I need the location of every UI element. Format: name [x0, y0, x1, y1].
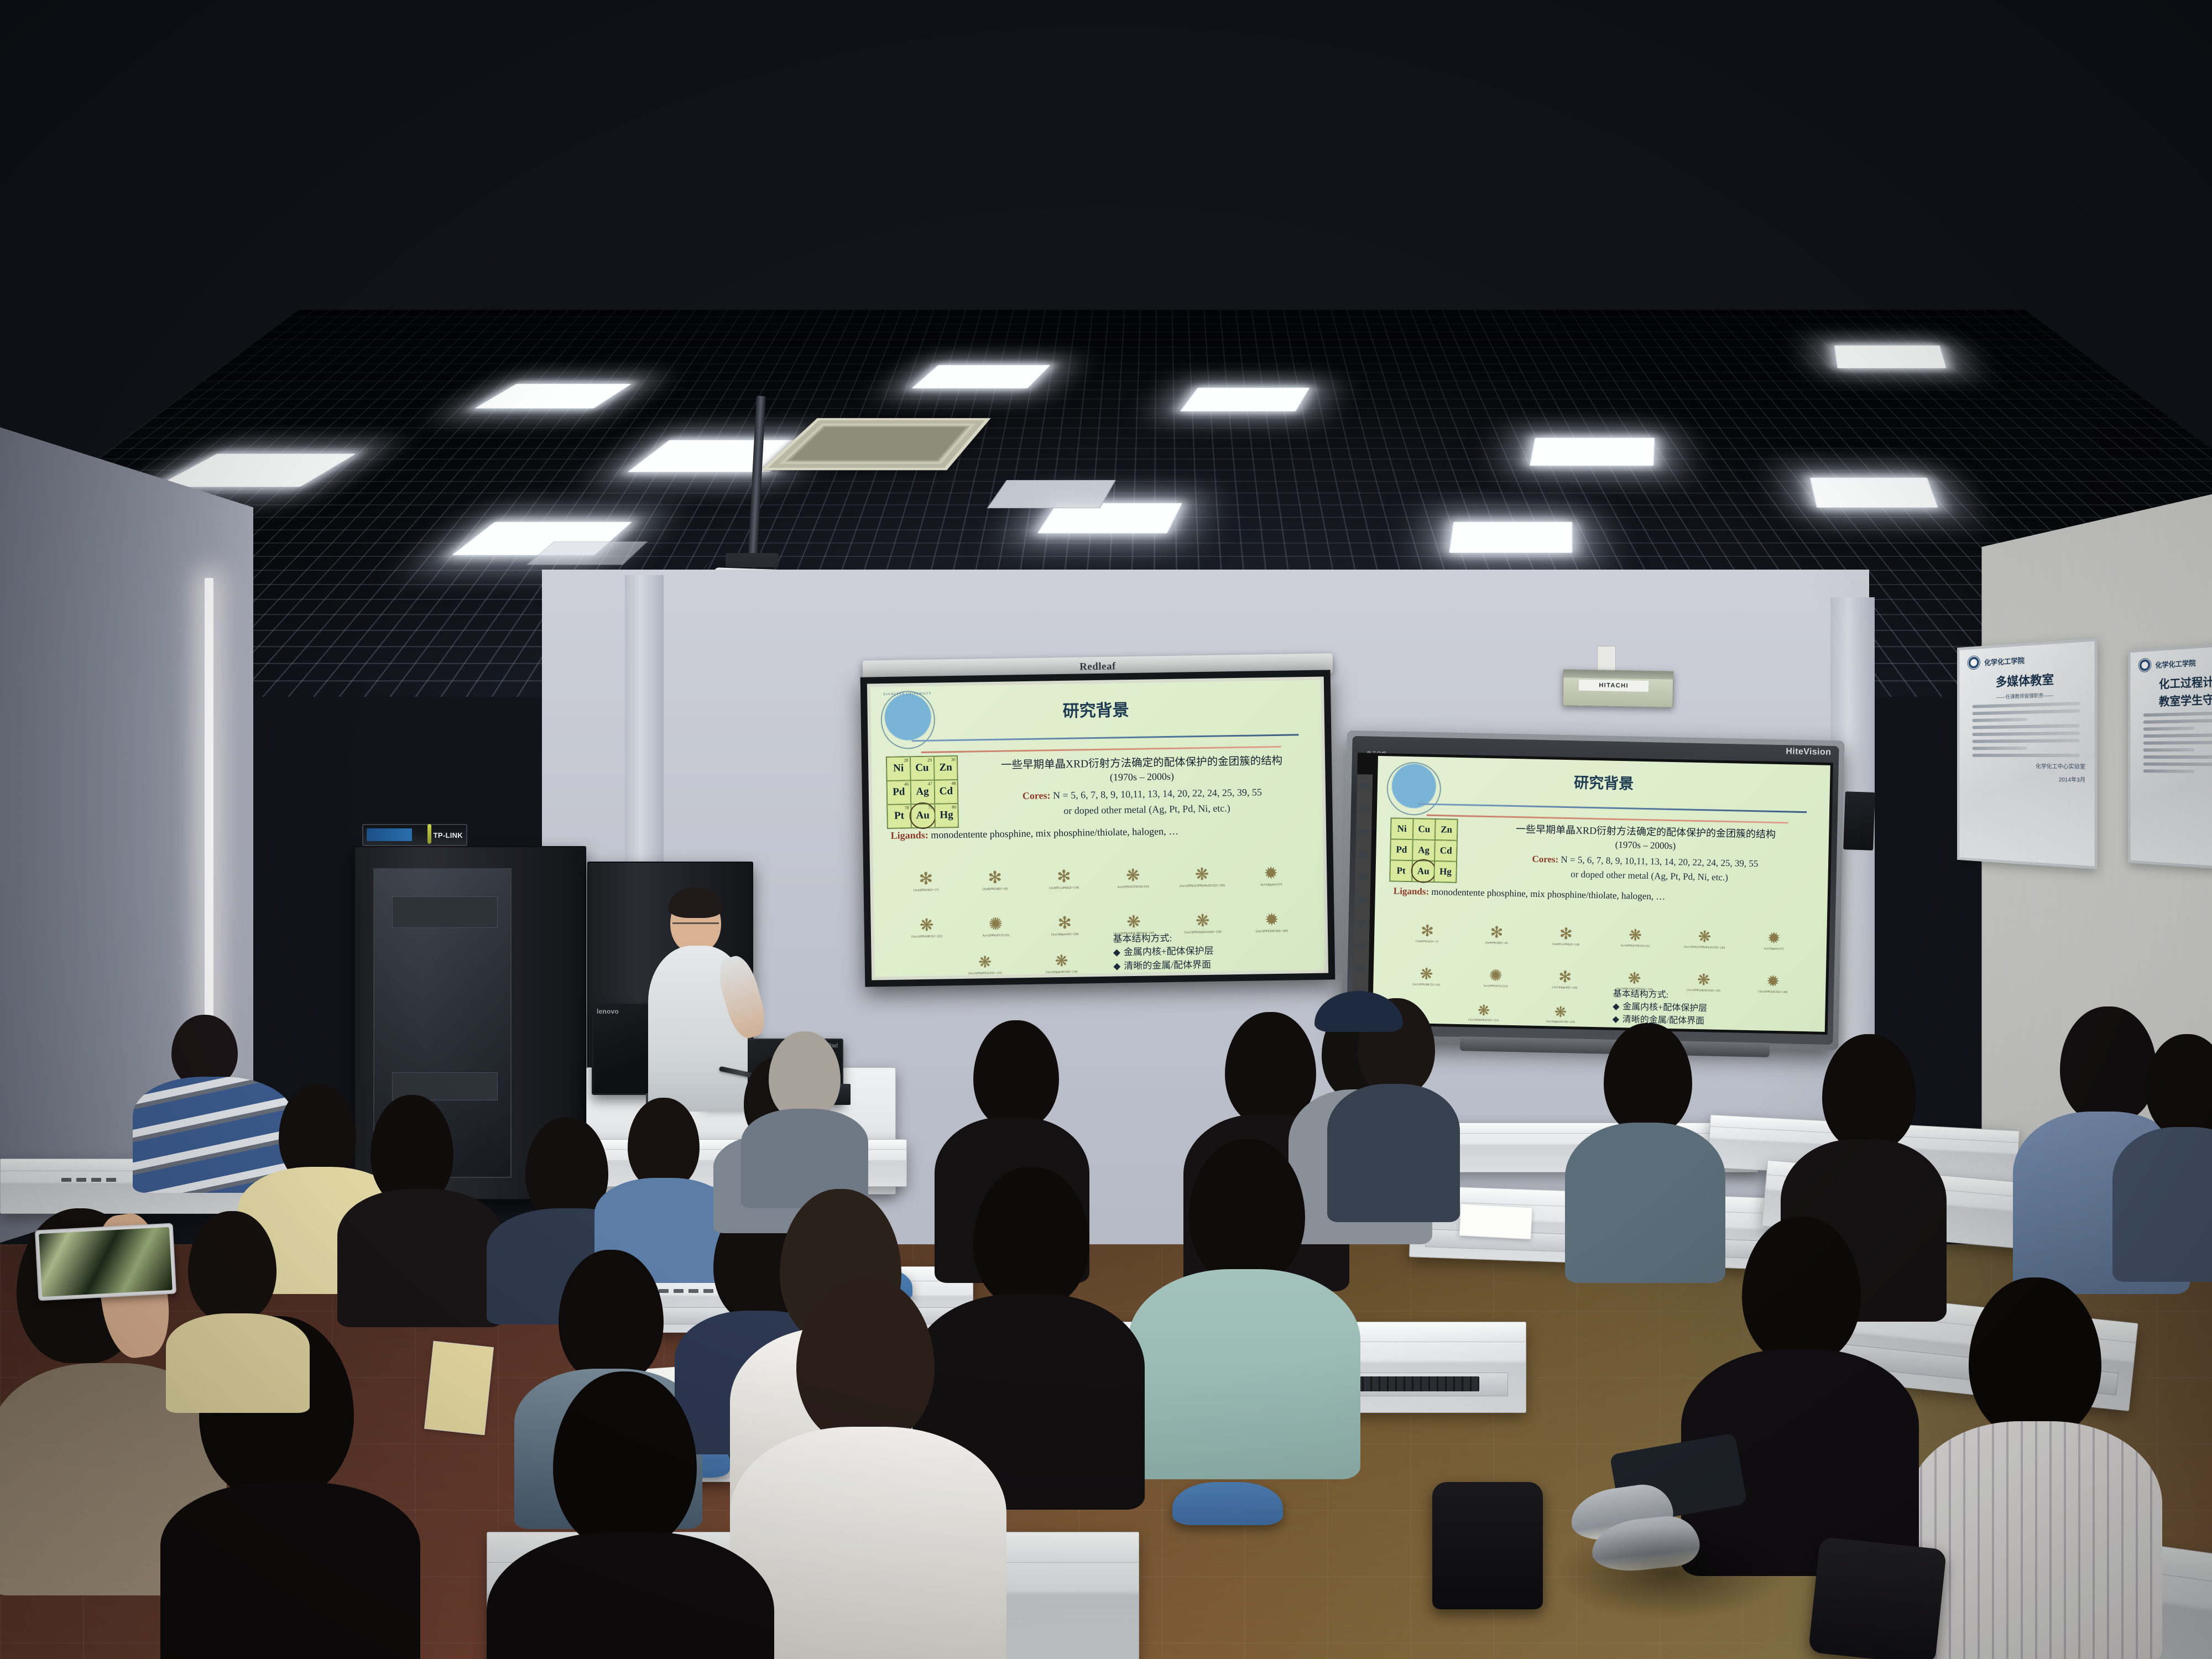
- bullet-text: 金属内核+配体保护层: [1124, 945, 1214, 959]
- whiteboard-brand-label: HiteVision: [1786, 747, 1831, 758]
- structure-thumb: ✹ Au11(dppe)4 (37): [1236, 843, 1306, 888]
- element-number: 47: [928, 781, 932, 786]
- toolbar-prev-icon[interactable]: [1356, 966, 1365, 972]
- periodic-cell: Zn: [1435, 819, 1458, 841]
- cluster-glyph: ❋: [978, 955, 992, 971]
- structure-caption: [Au11(PPh3)7(PPh2Py)2Cl2]2+ (36): [1180, 884, 1225, 888]
- router-brand-label: TP-LINK: [434, 831, 463, 839]
- toolbar-eraser-icon[interactable]: [1358, 898, 1367, 903]
- slide-ligands-block-mirror: Ligands: monodentente phosphine, mix pho…: [1394, 885, 1819, 905]
- element-symbol: Pd: [1396, 844, 1407, 855]
- element-symbol: Hg: [1439, 866, 1452, 877]
- projector-brand-label: HITACHI: [1579, 679, 1649, 692]
- structure-caption: [Au8(PPh3)8]2+ (8): [1485, 942, 1508, 945]
- element-symbol: Cd: [1440, 845, 1452, 856]
- person-torso: [1128, 1269, 1360, 1479]
- cluster-glyph: ✻: [988, 870, 1002, 886]
- structure-caption: Au11(dppe)4 (37): [1260, 883, 1282, 887]
- sign-body-line: [1973, 732, 2080, 736]
- structure-thumb: ❋ Au11(PPh3)7(NO3)3 (35): [1098, 844, 1167, 889]
- cluster-glyph: ✹: [1264, 865, 1279, 882]
- sign-body-line: [1973, 739, 2080, 743]
- cluster-glyph: ✻: [1558, 969, 1572, 985]
- slide-cores-line-2: or doped other metal (Ag, Pt, Pd, Ni, et…: [980, 801, 1314, 818]
- slide-divider-blue: [1418, 804, 1807, 813]
- sign-body-line: [1973, 718, 2027, 722]
- school-logo-icon: [1968, 655, 1980, 670]
- person-head: [1742, 1217, 1861, 1363]
- toolbar-page-icon[interactable]: [1359, 829, 1368, 834]
- person-head: [188, 1211, 276, 1322]
- cluster-glyph: ✻: [1490, 926, 1503, 941]
- cluster-glyph: ❋: [1126, 914, 1141, 931]
- structure-caption: [Au11(PPh3)8Cl2]+ (22): [1412, 983, 1440, 987]
- sign-title-line-1: 化工过程计算: [2138, 671, 2212, 693]
- projection-screen-surface: XIANGTAN UNIVERSITY 研究背景 28 Ni 29 Cu: [867, 677, 1328, 980]
- cluster-glyph: ❋: [1478, 1004, 1490, 1018]
- backpack: [1432, 1482, 1543, 1609]
- person-head: [1604, 1023, 1692, 1134]
- structure-caption: [Au6(PPh3)6]2+ (7): [914, 889, 938, 893]
- cluster-glyph: ❋: [1126, 868, 1140, 884]
- element-number: 79: [928, 805, 932, 810]
- cluster-glyph: ❋: [1697, 973, 1710, 988]
- ligands-label: Ligands:: [891, 830, 928, 841]
- sign-footer-org: 化学化工中心实验室: [1968, 761, 2086, 771]
- cluster-glyph: ❋: [1627, 971, 1641, 987]
- person-torso: [160, 1482, 420, 1659]
- periodic-cell: Pt: [1390, 860, 1412, 881]
- desk-cable-vent: [61, 1178, 116, 1182]
- sign-header: 化学化工学院: [1968, 649, 2086, 670]
- wall-sign-multimedia-classroom: 化学化工学院 多媒体教室 ——任课教师管理职责—— 化学化工中心实验室 2014…: [1957, 638, 2098, 869]
- structure-row-2: ❋ [Au11(PPh3)8Cl2]+ (22) ✺ Au11(PPh3)7Cl…: [891, 889, 1306, 938]
- structure-thumb: ✻[Au13(dppe)4]3+ (30): [1530, 948, 1600, 990]
- cores-label: Cores:: [1022, 790, 1051, 802]
- structure-thumb: ✻[Au8(PPh3)8]2+ (8): [1462, 904, 1532, 946]
- structure-caption: Au11(PPh3)7(NO3)3 (35): [1117, 885, 1149, 889]
- cluster-glyph: ❋: [1196, 913, 1210, 930]
- wifi-router: TP-LINK: [362, 824, 467, 846]
- ceiling-blank-panel: [987, 480, 1116, 508]
- ceiling-light-panel: [1180, 388, 1310, 411]
- sign-department: 化学化工学院: [2156, 657, 2196, 670]
- ceiling-light-panel: [1834, 346, 1947, 368]
- cluster-glyph: ✺: [1489, 968, 1503, 984]
- structure-thumb: ❋[Au13(PPh3)4(SO3)4]2+ (39): [1669, 951, 1739, 993]
- bullet-text: 清晰的金属/配体界面: [1124, 958, 1211, 973]
- structure-thumb: ✻[Au9(PCy2Ph)6]3+ (18): [1531, 906, 1601, 947]
- audience-member-cap: [1291, 994, 1424, 1138]
- element-symbol: Cu: [915, 762, 929, 774]
- periodic-cell: 48 Cd: [934, 780, 958, 804]
- audience-member: [741, 1031, 868, 1186]
- ceiling-light-panel: [1530, 437, 1655, 466]
- periodic-cell: Pd: [1390, 839, 1413, 860]
- periodic-table-excerpt: Ni Cu Zn Pd Ag Cd Pt Au Hg: [1389, 817, 1458, 883]
- slide-bullets: 基本结构方式: ◆ 金属内核+配体保护层 ◆ 清晰的金属/配体界面: [1113, 931, 1214, 973]
- structure-row-3: ❋ [Au13(PMePh2)10]3+ (31) ❋ [Au13(dppe)4…: [946, 936, 1100, 975]
- diamond-bullet-icon: ◆: [1113, 959, 1120, 973]
- person-head: [553, 1371, 697, 1548]
- structure-thumb: ❋ [Au11(PPh3)8Cl2]+ (22): [891, 894, 961, 939]
- toolbar-shape-icon[interactable]: [1358, 852, 1368, 857]
- whiteboard-display-surface[interactable]: 研究背景 Ni Cu Zn Pd Ag Cd Pt Au Hg 一些早期: [1352, 753, 1833, 1035]
- element-symbol: Ni: [893, 763, 904, 775]
- element-number: 29: [927, 758, 932, 763]
- periodic-cell: 47 Ag: [910, 780, 934, 804]
- diamond-bullet-icon: ◆: [1113, 946, 1120, 960]
- structure-caption: [Au13(PPh3)4Cl4]2+ (40): [1256, 929, 1288, 933]
- toolbar-undo-icon[interactable]: [1357, 920, 1366, 926]
- diamond-bullet-icon: ◆: [1613, 1000, 1620, 1013]
- toolbar-text-icon[interactable]: [1358, 874, 1368, 880]
- element-symbol: Hg: [940, 809, 953, 821]
- periodic-cell: 30 Zn: [933, 756, 957, 780]
- element-symbol: Ag: [916, 786, 929, 798]
- cluster-glyph: ✻: [1559, 927, 1573, 942]
- structure-thumb: ✻ [Au6(PPh3)6]2+ (7): [891, 848, 961, 893]
- structure-thumb: ❋Au11(PPh3)7(NO3)3 (35): [1600, 907, 1671, 948]
- audience-member: [166, 1211, 310, 1394]
- sign-body-line: [1973, 747, 2027, 750]
- person-head: [628, 1098, 700, 1189]
- structure-thumb: ❋ [Au13(PPh3)4(SC4H9)4]2+ (38): [1099, 891, 1168, 936]
- slide-projected: XIANGTAN UNIVERSITY 研究背景 28 Ni 29 Cu: [870, 680, 1325, 977]
- periodic-cell: Cd: [1434, 840, 1457, 862]
- structure-thumb: ❋ [Au11(PPh3)7(PPh2Py)2Cl2]2+ (36): [1167, 844, 1237, 889]
- element-symbol: Cd: [940, 785, 953, 797]
- cluster-glyph: ✻: [1057, 915, 1072, 932]
- slide-on-whiteboard: 研究背景 Ni Cu Zn Pd Ag Cd Pt Au Hg 一些早期: [1373, 756, 1830, 1032]
- wall-power-socket[interactable]: [1597, 646, 1616, 671]
- loose-paper[interactable]: [1459, 1204, 1533, 1240]
- structure-thumb: ✹[Au13(PPh3)4Cl4]2+ (40): [1738, 953, 1808, 994]
- cores-label: Cores:: [1532, 854, 1558, 865]
- cluster-glyph: ✹: [1767, 931, 1781, 947]
- audience-member: [453, 1371, 752, 1659]
- smartphone[interactable]: [35, 1223, 176, 1301]
- cluster-glyph: ❋: [1055, 954, 1068, 969]
- cluster-glyph: ❋: [1420, 967, 1433, 982]
- element-number: 28: [904, 758, 908, 763]
- sign-body-line: [2143, 718, 2212, 724]
- person-torso: [1908, 1421, 2162, 1659]
- periodic-cell: Ni: [1391, 818, 1413, 839]
- slide-title: 研究背景: [870, 693, 1321, 724]
- sign-footer-date: 2014年3月: [1968, 774, 2086, 784]
- element-symbol: Zn: [1441, 824, 1452, 835]
- structure-thumb: ❋[Au13(dppe)4Cl4]3+ (34): [1522, 988, 1599, 1025]
- slide-title-mirror: 研究背景: [1378, 766, 1830, 797]
- cluster-glyph: ❋: [1554, 1005, 1567, 1020]
- wall-strip-light: [205, 578, 213, 1076]
- phone-screen: [39, 1227, 173, 1297]
- structure-row-1-mirror: ✻[Au6(PPh3)6]2+ (7) ✻[Au8(PPh3)8]2+ (8) …: [1392, 903, 1809, 952]
- structure-caption: [Au13(PPh3)4Cl4]2+ (40): [1758, 990, 1787, 994]
- ceiling-light-panel: [1449, 521, 1573, 553]
- backpack: [1808, 1537, 1947, 1659]
- sign-body-line: [1973, 702, 2080, 708]
- cluster-glyph: ✻: [1057, 869, 1071, 885]
- structure-caption: [Au13(PMePh2)10]3+ (31): [1468, 1019, 1499, 1022]
- person-head: [796, 1277, 935, 1443]
- element-symbol: Pt: [1396, 865, 1405, 876]
- school-logo-icon: [2138, 658, 2151, 673]
- floor-shadow: [1554, 1526, 1786, 1620]
- periodic-cell: 46 Pd: [887, 780, 911, 805]
- sign-body-line: [2143, 769, 2195, 773]
- periodic-cell: 29 Cu: [910, 756, 934, 780]
- structure-thumb: ✹Au11(dppe)4 (37): [1739, 910, 1809, 952]
- presenter-glasses-icon: [672, 922, 719, 931]
- structure-caption: [Au11(PPh3)8Cl2]+ (22): [911, 935, 942, 938]
- structure-caption: [Au6(PPh3)6]2+ (7): [1416, 941, 1438, 944]
- bullet-text: 金属内核+配体保护层: [1623, 1000, 1707, 1015]
- person-head: [1189, 1139, 1305, 1283]
- router-antenna: [427, 824, 431, 844]
- cluster-glyph: ❋: [1629, 928, 1642, 944]
- structure-thumb: ✻ [Au8(PPh3)8]2+ (8): [960, 847, 1030, 891]
- structure-thumb: ✻[Au6(PPh3)6]2+ (7): [1392, 903, 1463, 945]
- router-display: [367, 828, 412, 841]
- structure-caption: [Au13(PMePh2)10]3+ (31): [968, 972, 1001, 975]
- sign-body-line: [2143, 740, 2212, 745]
- periodic-cell-highlighted: 79 Au: [911, 804, 935, 828]
- cluster-glyph: ✹: [1766, 974, 1780, 989]
- periodic-cell: 28 Ni: [886, 757, 910, 781]
- periodic-cell: 80 Hg: [935, 804, 958, 828]
- wall-projector: HITACHI: [1562, 669, 1673, 707]
- cluster-glyph: ❋: [1195, 867, 1209, 883]
- structure-thumb: ✹ [Au13(PPh3)4Cl4]2+ (40): [1237, 889, 1306, 933]
- cluster-glyph: ✻: [919, 871, 933, 888]
- sign-body-line: [2143, 711, 2212, 717]
- structure-caption: [Au9(PCy2Ph)6]3+ (18): [1552, 943, 1579, 947]
- periodic-cell: Cu: [1413, 818, 1436, 840]
- bullet-item: ◆ 清晰的金属/配体界面: [1113, 958, 1214, 973]
- sign-body-line: [1973, 754, 2080, 757]
- structure-row-1: ✻ [Au6(PPh3)6]2+ (7) ✻ [Au8(PPh3)8]2+ (8…: [891, 843, 1306, 893]
- sign-header: 化学化工学院: [2138, 652, 2212, 673]
- whiteboard-side-speaker: [1843, 791, 1875, 851]
- sign-title-line-2: 教室学生守则: [2138, 690, 2212, 710]
- periodic-cell: Ag: [1412, 839, 1435, 861]
- audience-member: [337, 1095, 503, 1305]
- sign-department: 化学化工学院: [1984, 654, 2025, 667]
- sign-body-line: [2143, 755, 2212, 759]
- element-symbol: Ag: [1418, 844, 1430, 855]
- ligands-text: monodentente phosphine, mix phosphine/th…: [1431, 886, 1665, 902]
- person-torso: [487, 1532, 774, 1659]
- person-head: [1969, 1277, 2101, 1438]
- person-head: [1822, 1034, 1916, 1150]
- periodic-cell: 78 Pt: [887, 804, 911, 828]
- structure-thumb: ❋[Au11(PPh3)7(PPh2Py)2Cl2]2+ (36): [1670, 909, 1740, 950]
- cores-line-1: N = 5, 6, 7, 8, 9, 10,11, 13, 14, 20, 22…: [1561, 854, 1758, 869]
- structure-caption: [Au11(PPh3)7(PPh2Py)2Cl2]2+ (36): [1684, 946, 1725, 950]
- toolbar-redo-icon[interactable]: [1357, 943, 1366, 948]
- cluster-glyph: ❋: [920, 917, 934, 934]
- element-number: 48: [951, 781, 956, 786]
- sign-body-line: [2143, 763, 2212, 766]
- structure-thumb: ✺Au11(PPh3)7Cl3 (23): [1461, 947, 1531, 988]
- slide-divider-blue: [912, 734, 1299, 742]
- person-head: [769, 1031, 841, 1120]
- projector-top-bar: [1563, 670, 1673, 680]
- sign-body-line: [2143, 727, 2195, 731]
- sign-body-line: [1973, 709, 2080, 715]
- cluster-glyph: ✺: [989, 916, 1003, 933]
- sign-body-line: [1973, 724, 2080, 729]
- structure-thumb: ❋ [Au13(PMePh2)10]3+ (31): [946, 937, 1023, 975]
- cores-line-1: N = 5, 6, 7, 8, 9, 10,11, 13, 14, 20, 22…: [1053, 787, 1262, 801]
- ligands-text: monodentente phosphine, mix phosphine/th…: [931, 826, 1178, 841]
- structure-thumb: ❋[Au11(PPh3)8Cl2]+ (22): [1391, 946, 1462, 987]
- element-number: 46: [904, 781, 909, 786]
- slide-cores-block: Cores: N = 5, 6, 7, 8, 9, 10,11, 13, 14,…: [971, 786, 1313, 803]
- structure-caption: [Au8(PPh3)8]2+ (8): [983, 888, 1008, 891]
- student-chair[interactable]: [1172, 1482, 1283, 1525]
- structure-thumb: ❋[Au13(PPh3)4(SC4H9)4]2+ (38): [1599, 950, 1670, 992]
- element-symbol: Ni: [1397, 823, 1406, 834]
- structure-caption: Au11(PPh3)7(NO3)3 (35): [1620, 945, 1650, 948]
- sign-subtitle: ——任课教师管理职责——: [1968, 690, 2086, 702]
- person-torso: [166, 1313, 310, 1413]
- cluster-glyph: ✹: [1265, 912, 1279, 928]
- person-head: [2146, 1034, 2212, 1136]
- person-torso: [2112, 1127, 2212, 1282]
- element-number: 80: [952, 805, 956, 810]
- sign-body-line: [2143, 748, 2195, 752]
- slide-bullets-mirror: 基本结构方式: ◆金属内核+配体保护层 ◆清晰的金属/配体界面: [1613, 988, 1708, 1028]
- structure-thumb: ✻ [Au13(dppe)4]3+ (30): [1030, 892, 1099, 937]
- element-symbol: Pt: [894, 810, 904, 822]
- gold-highlight-circle: [1411, 859, 1436, 883]
- logo-university-text: XIANGTAN UNIVERSITY: [883, 692, 932, 696]
- person-torso: [337, 1189, 503, 1327]
- ligands-label: Ligands:: [1394, 885, 1430, 896]
- structure-caption: [Au9(PCy2Ph)6]3+ (18): [1049, 886, 1079, 890]
- ceiling-light-panel: [1809, 478, 1938, 508]
- cluster-glyph: ❋: [1698, 930, 1711, 945]
- sign-body-line: [2143, 733, 2212, 738]
- structure-caption: Au11(dppe)4 (37): [1764, 948, 1783, 951]
- cluster-glyph: ✻: [1421, 924, 1434, 940]
- screen-brand-label: Redleaf: [1079, 660, 1116, 673]
- element-number: 78: [905, 805, 909, 810]
- element-symbol: Zn: [939, 761, 952, 774]
- structure-thumb: ❋ [Au13(PPh3)4(SO3)4]2+ (39): [1168, 890, 1238, 935]
- person-head: [559, 1250, 664, 1383]
- structure-caption: [Au13(dppe)4Cl4]3+ (34): [1046, 971, 1077, 974]
- classroom-scene: Redleaf XIANGTAN UNIVERSITY 研究背景 28: [0, 0, 2212, 1659]
- periodic-cell-highlighted: Au: [1412, 860, 1434, 882]
- periodic-cell: Hg: [1434, 861, 1457, 883]
- bullet-item: ◆ 金属内核+配体保护层: [1113, 945, 1214, 959]
- structure-thumb: ❋ [Au13(dppe)4Cl4]3+ (34): [1023, 936, 1100, 974]
- person-head: [171, 1015, 238, 1087]
- person-head: [973, 1020, 1059, 1128]
- toolbar-pen-icon[interactable]: [1360, 783, 1369, 789]
- sign-title: 多媒体教室: [1968, 668, 2086, 691]
- element-symbol: Pd: [893, 786, 905, 799]
- structure-thumb: ✺ Au11(PPh3)7Cl3 (23): [961, 893, 1030, 938]
- presenter-hair: [668, 887, 723, 918]
- rack-patch-panel: [392, 896, 498, 928]
- element-symbol: Cu: [1418, 823, 1430, 834]
- structure-row-3-mirror: ❋[Au13(PMePh2)10]3+ (31) ❋[Au13(dppe)4Cl…: [1445, 987, 1599, 1024]
- audience-member: [1128, 1139, 1360, 1449]
- bullets-header: 基本结构方式:: [1113, 931, 1213, 946]
- wall-sign-student-rules: 化学化工学院 化工过程计算 教室学生守则: [2128, 641, 2212, 872]
- element-number: 30: [951, 757, 956, 762]
- person-cap-icon: [1314, 991, 1403, 1032]
- projection-screen[interactable]: XIANGTAN UNIVERSITY 研究背景 28 Ni 29 Cu: [860, 670, 1335, 987]
- structure-thumb: ✻ [Au9(PCy2Ph)6]3+ (18): [1029, 846, 1099, 890]
- monitor-brand-label: lenovo: [597, 1008, 619, 1015]
- periodic-table-excerpt: 28 Ni 29 Cu 30 Zn 46 Pd: [886, 755, 959, 829]
- whiteboard-toolbar[interactable]: [1353, 774, 1373, 1003]
- audience-member: [2112, 1034, 2212, 1255]
- toolbar-select-icon[interactable]: [1359, 806, 1369, 812]
